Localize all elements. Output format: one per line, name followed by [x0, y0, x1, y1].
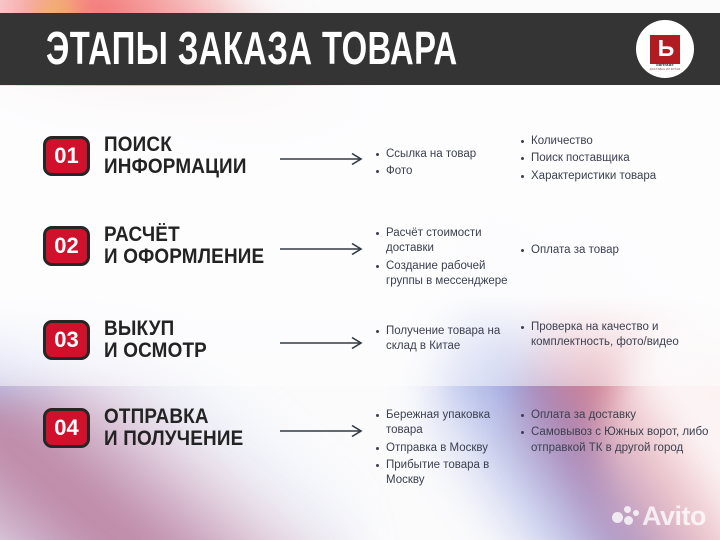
list-item: Прибытие товара в Москву: [375, 458, 520, 489]
step-heading-2: 02 РАСЧЁТ И ОФОРМЛЕНИЕ: [0, 224, 280, 269]
arrow-right-icon: [280, 336, 368, 350]
list-item: Создание рабочей группы в мессенджере: [375, 259, 520, 290]
infographic-poster: ЭТАПЫ ЗАКАЗА ТОВАРА Ь bartrade ДОСТАВКА …: [0, 0, 720, 540]
step-heading-4: 04 ОТПРАВКА И ПОЛУЧЕНИЕ: [0, 406, 280, 451]
bullet-column-1: Бережная упаковка товара Отправка в Моск…: [375, 408, 520, 490]
list-item: Получение товара на склад в Китае: [375, 324, 520, 355]
list-item: Отправка в Москву: [375, 441, 520, 456]
step-arrow-1: [280, 134, 375, 166]
avito-dots-icon: [612, 506, 639, 528]
list-item: Поиск поставщика: [520, 151, 710, 166]
logo-glyph-icon: Ь: [658, 37, 675, 60]
logo-caption-text: bartrade: [656, 62, 674, 67]
step-bullets-2: Расчёт стоимости доставки Создание рабоч…: [375, 224, 720, 291]
list-item: Самовывоз с Южных ворот, либо отправкой …: [520, 425, 710, 456]
bullet-list: Бережная упаковка товара Отправка в Моск…: [375, 408, 520, 488]
step-number-badge-1: 01: [43, 136, 90, 176]
step-title-line2: И ПОЛУЧЕНИЕ: [104, 428, 243, 450]
logo-caption-subtext: ДОСТАВКА ИЗ КИТАЯ: [636, 68, 694, 71]
list-item: Оплата за товар: [520, 243, 710, 258]
step-row: 02 РАСЧЁТ И ОФОРМЛЕНИЕ Расчёт стоимости …: [0, 224, 720, 291]
list-item: Оплата за доставку: [520, 408, 710, 423]
step-bullets-4: Бережная упаковка товара Отправка в Моск…: [375, 406, 720, 490]
bullet-list: Проверка на качество и комплектность, фо…: [520, 320, 710, 351]
bullet-list: Оплата за товар: [520, 243, 710, 258]
step-number-badge-2: 02: [43, 226, 90, 266]
step-arrow-3: [280, 318, 375, 350]
step-title-line1: ПОИСК: [104, 133, 172, 156]
list-item: Ссылка на товар: [375, 147, 520, 162]
step-arrow-4: [280, 406, 375, 438]
bullet-column-1: Ссылка на товар Фото: [375, 134, 520, 186]
step-title-line1: РАСЧЁТ: [104, 223, 180, 246]
bullet-column-2: Количество Поиск поставщика Характеристи…: [520, 134, 710, 186]
logo-caption: bartrade ДОСТАВКА ИЗ КИТАЯ: [636, 63, 694, 71]
arrow-right-icon: [280, 152, 368, 166]
step-title-line1: ОТПРАВКА: [104, 405, 209, 428]
bullet-column-1: Получение товара на склад в Китае: [375, 320, 520, 357]
step-number-badge-3: 03: [43, 320, 90, 360]
company-logo: Ь bartrade ДОСТАВКА ИЗ КИТАЯ: [636, 20, 694, 78]
step-row: 03 ВЫКУП И ОСМОТР Получение товара на ск…: [0, 318, 720, 363]
step-title-2: РАСЧЁТ И ОФОРМЛЕНИЕ: [104, 224, 264, 269]
step-bullets-1: Ссылка на товар Фото Количество Поиск по…: [375, 134, 720, 186]
bullet-column-2: Оплата за товар: [520, 226, 710, 291]
bullet-list: Ссылка на товар Фото: [375, 147, 520, 180]
list-item: Проверка на качество и комплектность, фо…: [520, 320, 710, 351]
bullet-list: Количество Поиск поставщика Характеристи…: [520, 134, 710, 184]
arrow-right-icon: [280, 424, 368, 438]
bullet-column-2: Оплата за доставку Самовывоз с Южных вор…: [520, 408, 710, 490]
logo-mark: Ь: [650, 35, 680, 64]
step-title-line2: И ОСМОТР: [104, 340, 207, 362]
bullet-column-1: Расчёт стоимости доставки Создание рабоч…: [375, 226, 520, 291]
step-title-1: ПОИСК ИНФОРМАЦИИ: [104, 134, 247, 179]
step-heading-1: 01 ПОИСК ИНФОРМАЦИИ: [0, 134, 280, 179]
header-banner: ЭТАПЫ ЗАКАЗА ТОВАРА Ь bartrade ДОСТАВКА …: [0, 13, 720, 85]
bullet-list: Получение товара на склад в Китае: [375, 324, 520, 355]
avito-wordmark: Avito: [642, 503, 706, 530]
list-item: Бережная упаковка товара: [375, 408, 520, 439]
bullet-list: Расчёт стоимости доставки Создание рабоч…: [375, 226, 520, 289]
list-item: Расчёт стоимости доставки: [375, 226, 520, 257]
step-number-badge-4: 04: [43, 408, 90, 448]
step-bullets-3: Получение товара на склад в Китае Провер…: [375, 318, 720, 357]
step-heading-3: 03 ВЫКУП И ОСМОТР: [0, 318, 280, 363]
list-item: Количество: [520, 134, 710, 149]
list-item: Фото: [375, 164, 520, 179]
page-title: ЭТАПЫ ЗАКАЗА ТОВАРА: [46, 26, 458, 72]
step-row: 04 ОТПРАВКА И ПОЛУЧЕНИЕ Бережная упаковк…: [0, 406, 720, 490]
step-title-3: ВЫКУП И ОСМОТР: [104, 318, 207, 363]
bullet-column-2: Проверка на качество и комплектность, фо…: [520, 320, 710, 357]
arrow-right-icon: [280, 242, 368, 256]
step-title-line1: ВЫКУП: [104, 317, 174, 340]
step-title-4: ОТПРАВКА И ПОЛУЧЕНИЕ: [104, 406, 243, 451]
step-arrow-2: [280, 224, 375, 256]
list-item: Характеристики товара: [520, 169, 710, 184]
step-title-line2: ИНФОРМАЦИИ: [104, 156, 247, 178]
bullet-list: Оплата за доставку Самовывоз с Южных вор…: [520, 408, 710, 456]
avito-watermark: Avito: [612, 503, 706, 530]
step-title-line2: И ОФОРМЛЕНИЕ: [104, 246, 264, 268]
step-row: 01 ПОИСК ИНФОРМАЦИИ Ссылка на товар Фото: [0, 134, 720, 186]
